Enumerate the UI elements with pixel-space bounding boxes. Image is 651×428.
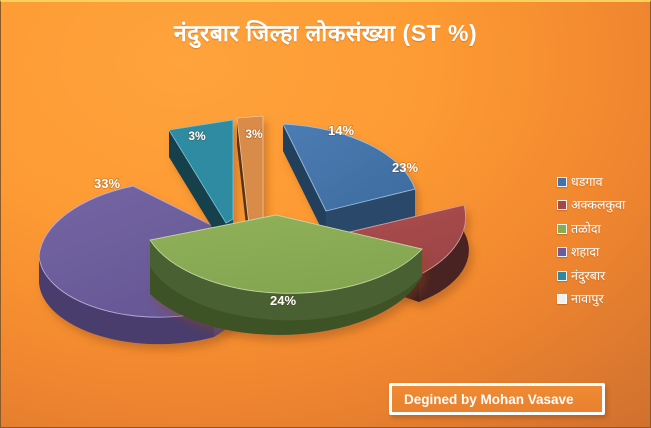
legend-item-taloda[interactable]: तळोदा — [557, 217, 649, 241]
legend-label-taloda: तळोदा — [571, 223, 601, 236]
pie-slice-label-shahada: 33% — [94, 176, 120, 191]
legend-item-shahada[interactable]: शहादा — [557, 241, 649, 265]
pie-slice-label-navapur: 3% — [245, 127, 263, 141]
pie-chart-plot-area: 33% 3% 3% 14% — [11, 60, 551, 380]
legend-item-nandurbar[interactable]: नंदुरबार — [557, 264, 649, 288]
legend-swatch-dhadgaon — [557, 177, 567, 187]
legend-swatch-nandurbar — [557, 271, 567, 281]
legend-label-dhadgaon: धडगाव — [571, 176, 603, 189]
chart-legend: धडगाव अक्कलकुवा तळोदा शहादा नंदुरबार नाव… — [557, 170, 649, 311]
legend-label-navapur: नावापुर — [571, 293, 604, 306]
pie-slice-label-akkalkuwa: 23% — [392, 160, 418, 175]
legend-label-nandurbar: नंदुरबार — [571, 270, 605, 283]
legend-swatch-shahada — [557, 247, 567, 257]
legend-swatch-navapur — [557, 294, 567, 304]
legend-swatch-taloda — [557, 224, 567, 234]
legend-label-shahada: शहादा — [571, 246, 599, 259]
credit-box: Degined by Mohan Vasave — [389, 383, 605, 415]
credit-text: Degined by Mohan Vasave — [392, 392, 574, 407]
chart-title: नंदुरबार जिल्हा लोकसंख्या (ST %) — [1, 16, 650, 48]
legend-item-navapur[interactable]: नावापुर — [557, 288, 649, 312]
pie-slice-label-nandurbar: 3% — [188, 129, 206, 143]
chart-canvas: नंदुरबार जिल्हा लोकसंख्या (ST %) — [0, 0, 651, 428]
legend-swatch-akkalkuwa — [557, 200, 567, 210]
pie-chart-svg: 33% 3% 3% 14% — [11, 60, 551, 380]
pie-slice-label-dhadgaon: 14% — [328, 123, 354, 138]
legend-item-akkalkuwa[interactable]: अक्कलकुवा — [557, 194, 649, 218]
legend-item-dhadgaon[interactable]: धडगाव — [557, 170, 649, 194]
legend-label-akkalkuwa: अक्कलकुवा — [571, 199, 625, 212]
pie-slice-label-taloda: 24% — [270, 293, 296, 308]
